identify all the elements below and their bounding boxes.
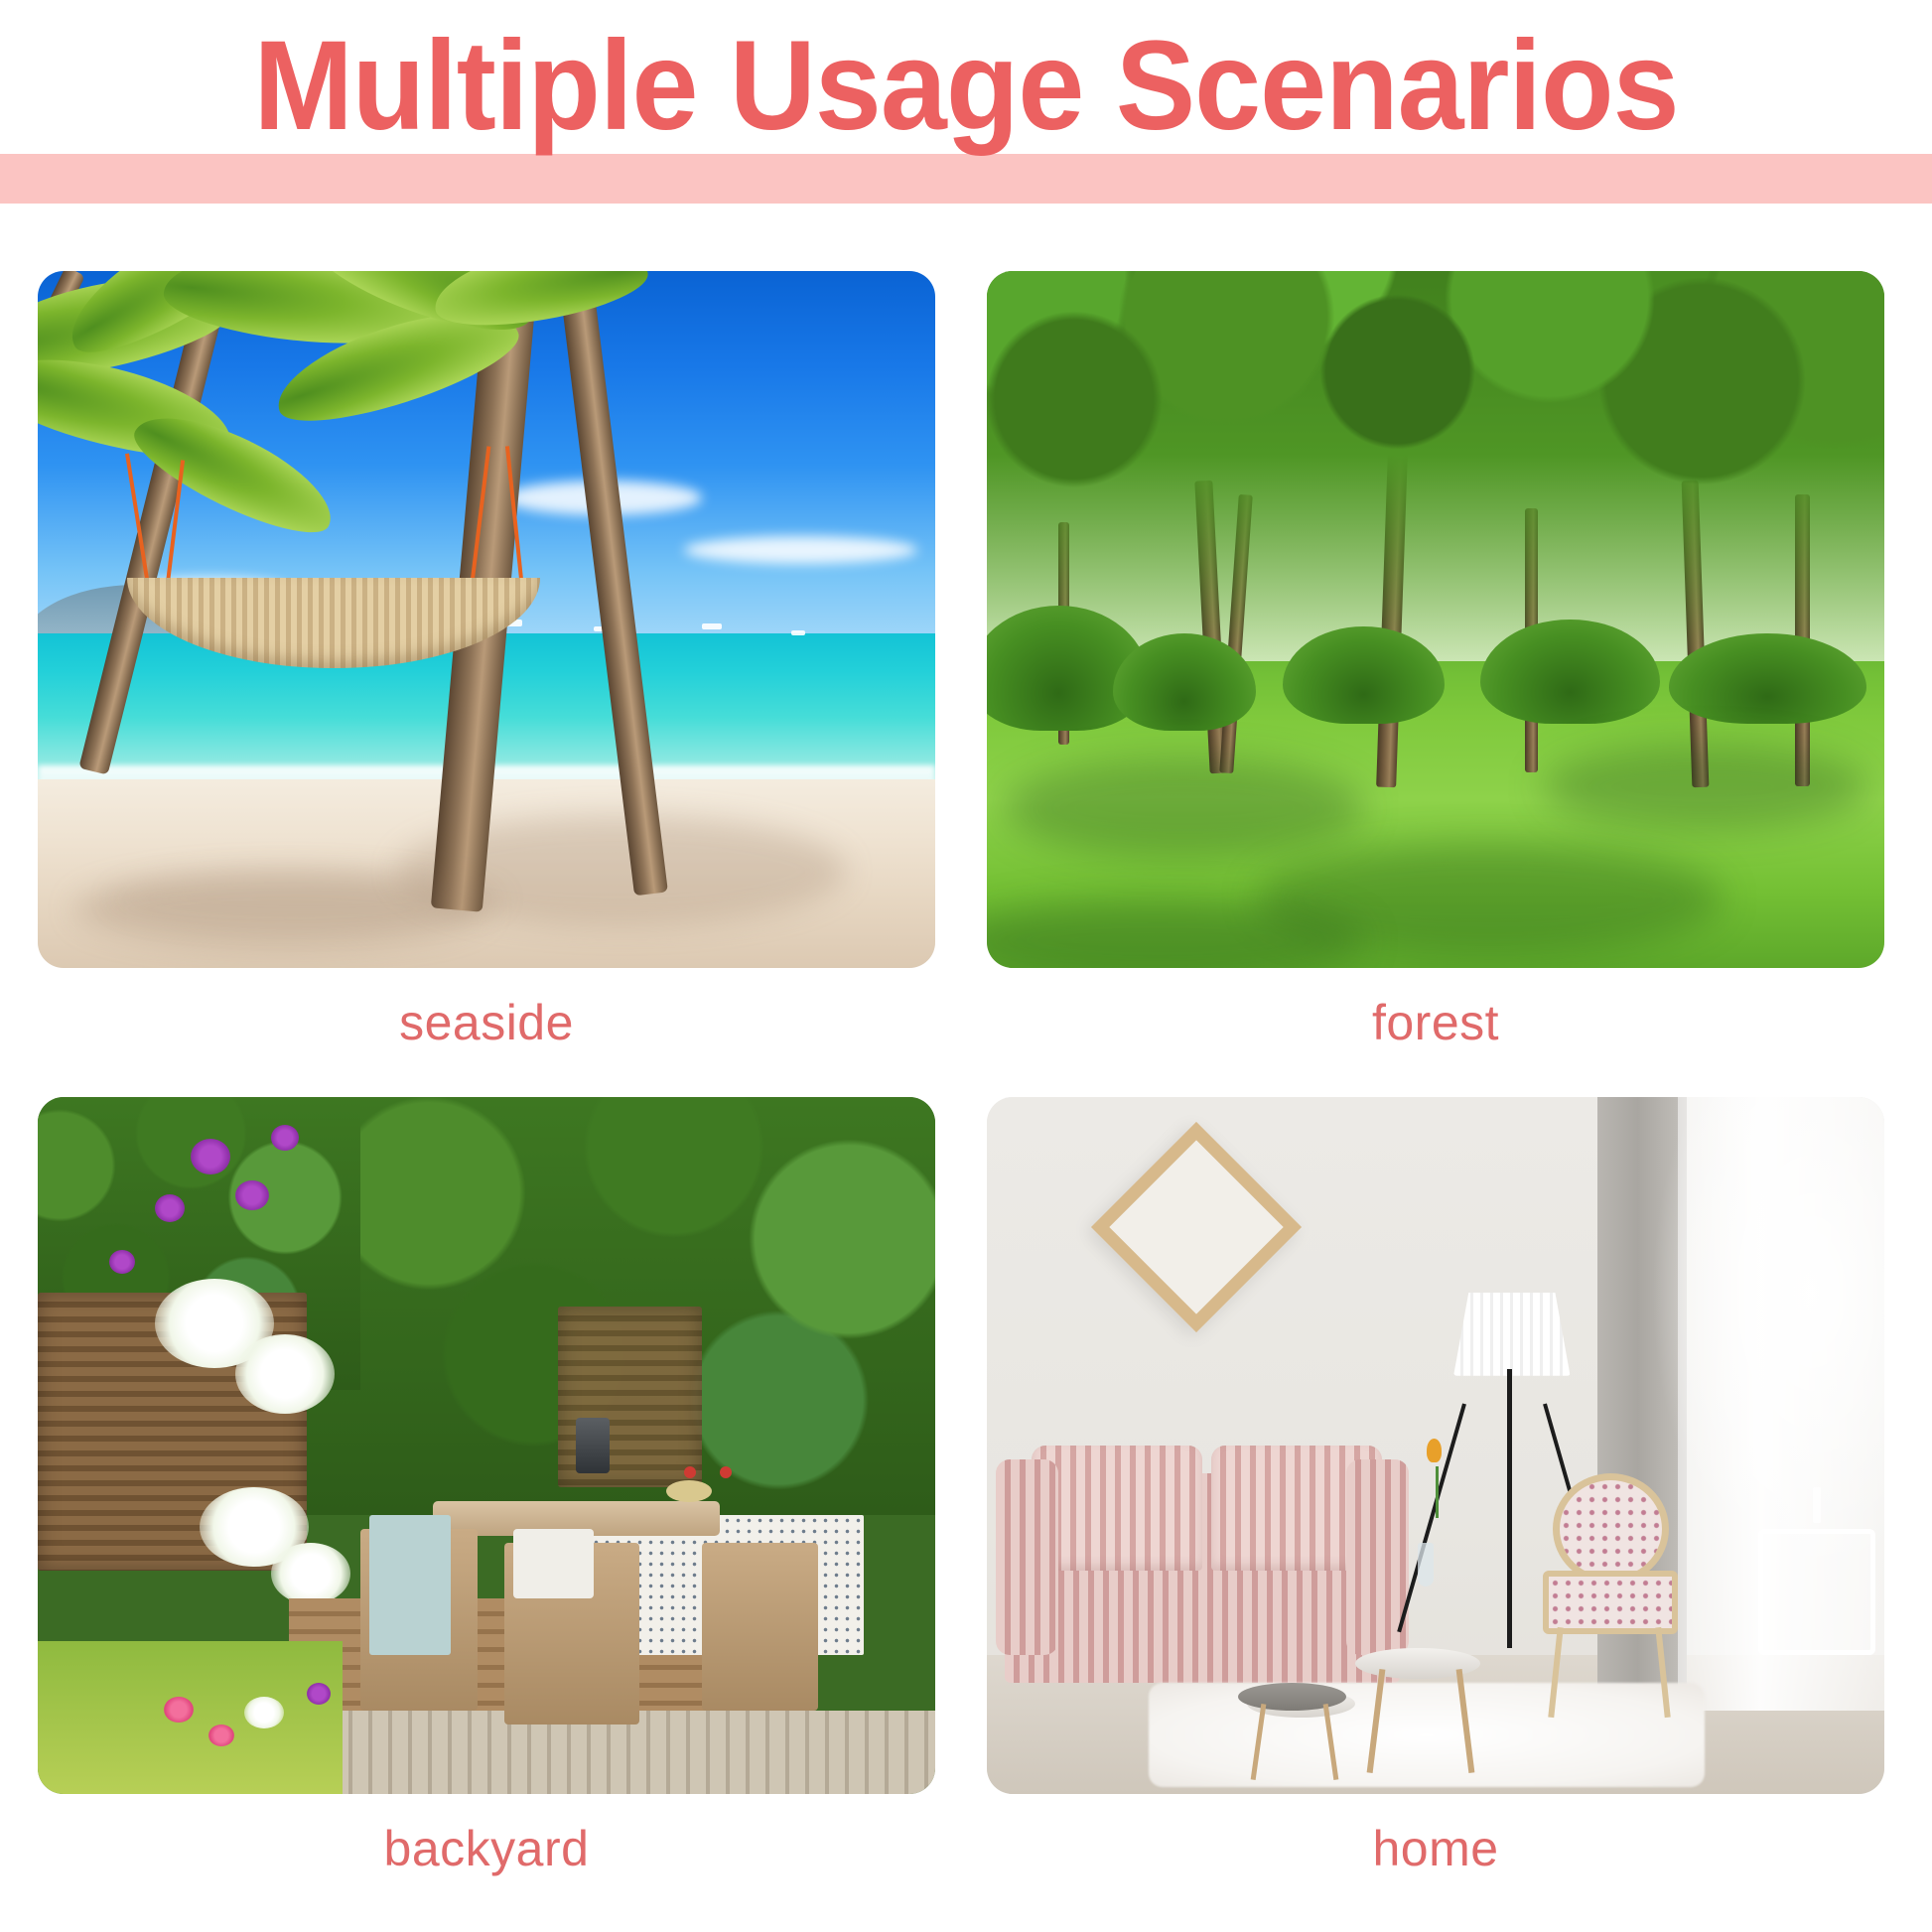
backyard-photo[interactable] [38,1097,935,1794]
glass-vase [1418,1543,1434,1587]
flower [155,1194,185,1222]
throw-blanket [369,1515,450,1654]
caption-backyard: backyard [38,1794,935,1903]
sofa-arm [996,1459,1058,1655]
candle [1813,1487,1821,1523]
cloud-icon [684,536,917,564]
hammock-shadow [109,871,504,926]
gallery-item-forest[interactable]: forest [987,271,1884,1077]
caption-seaside: seaside [38,968,935,1077]
area-rug [1149,1683,1705,1787]
flower [164,1697,194,1723]
flower-stem [1436,1466,1439,1518]
flower [307,1683,331,1705]
apple-icon [720,1466,732,1478]
lawn-shadow [1005,759,1364,856]
floor-lamp-pole [1507,1369,1512,1648]
apple-icon [684,1466,696,1478]
cushion [513,1529,594,1598]
flower-cluster [271,1543,350,1604]
accent-chair-back [1553,1473,1670,1585]
vase [576,1418,610,1473]
lawn-shadow [1543,745,1865,828]
page-title: Multiple Usage Scenarios [58,18,1873,155]
flower [191,1139,230,1174]
caption-forest: forest [987,968,1884,1077]
tree-canopy [987,271,1884,675]
home-photo[interactable] [987,1097,1884,1794]
chair [702,1543,819,1710]
header-banner-strip [0,154,1932,204]
flower [271,1125,299,1151]
caption-home: home [987,1794,1884,1903]
boat-icon [791,630,805,635]
accent-chair-seat [1543,1571,1678,1633]
flower [208,1725,234,1746]
gallery-item-backyard[interactable]: backyard [38,1097,935,1903]
flower [244,1697,284,1728]
flower-cluster [235,1334,335,1414]
forest-photo[interactable] [987,271,1884,968]
fruit-bowl [666,1480,712,1502]
boat-icon [702,623,722,629]
side-table [1758,1529,1875,1654]
gallery-item-home[interactable]: home [987,1097,1884,1903]
page-header: Multiple Usage Scenarios [0,0,1932,213]
gallery-item-seaside[interactable]: seaside [38,271,935,1077]
tulip-flower [1427,1439,1442,1462]
seaside-photo[interactable] [38,271,935,968]
side-table-top [1238,1683,1345,1711]
flower [235,1180,269,1210]
scenario-gallery: seaside forest [38,271,1884,1860]
floor-lamp-shade [1453,1293,1571,1376]
window-light [1651,1097,1884,1585]
